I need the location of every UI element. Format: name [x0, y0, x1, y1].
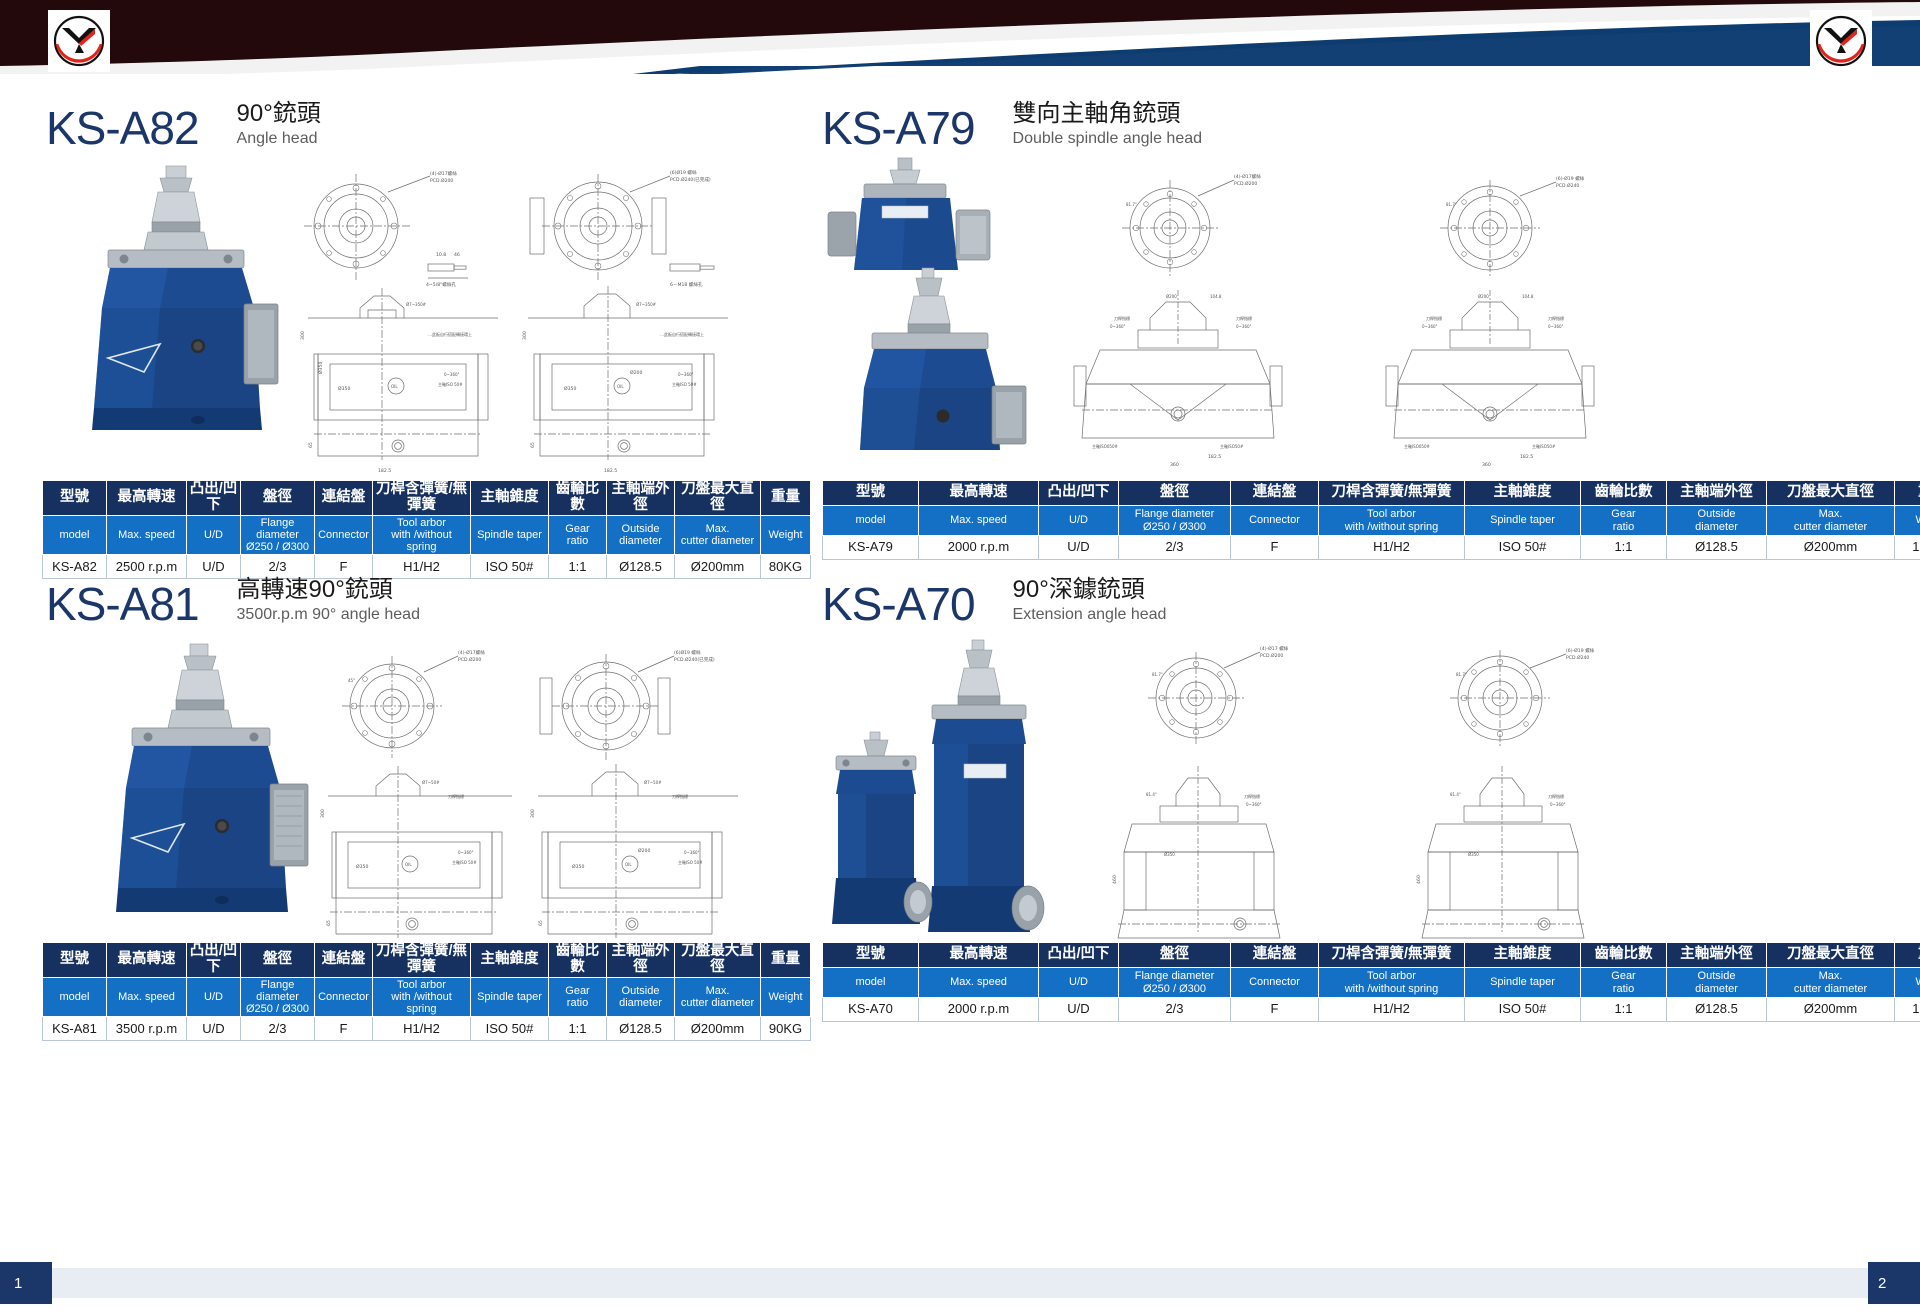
table-header-row-en: model Max. speed U/D Flange diameter Ø25… [823, 968, 1920, 998]
header-cn-outside: 主軸端外徑 [1667, 481, 1767, 506]
header-cn-model: 型號 [43, 943, 107, 978]
product-title-ks-a81: KS-A81 高轉速90°銃頭 3500r.p.m 90° angle head [46, 576, 420, 627]
svg-text:6－M18 螺絲孔: 6－M18 螺絲孔 [670, 281, 703, 288]
svg-text:0~360°: 0~360° [678, 372, 694, 377]
svg-text:OIL: OIL [405, 862, 412, 867]
svg-text:(4)-Ø17螺絲: (4)-Ø17螺絲 [430, 170, 457, 177]
svg-text:0~360°: 0~360° [1548, 324, 1564, 329]
header-en-connector: Connector [315, 977, 373, 1016]
header-cn-connector: 連結盤 [315, 481, 373, 516]
svg-text:PCD.Ø240: PCD.Ø240 [1556, 182, 1579, 189]
svg-text:0~360°: 0~360° [444, 372, 460, 377]
value-connector: F [1231, 536, 1319, 560]
value-outside: Ø128.5 [1667, 998, 1767, 1022]
svg-text:刀桿指標: 刀桿指標 [1244, 793, 1260, 799]
header-en-ud: U/D [1039, 968, 1119, 998]
svg-text:Ø350: Ø350 [572, 863, 584, 870]
table-row: KS-A70 2000 r.p.m U/D 2/3 F H1/H2 ISO 50… [823, 998, 1920, 1022]
technical-drawing-ks-a70: (4)-Ø17 螺絲 PCD.Ø200 81.7° (6)-Ø19 螺絲 [1090, 646, 1710, 976]
value-arbor: H1/H2 [373, 1017, 471, 1041]
header-en-outside: Outside diameter [607, 977, 675, 1016]
svg-text:Ø350: Ø350 [356, 863, 368, 870]
svg-text:Ø7~350#: Ø7~350# [406, 302, 427, 307]
value-taper: ISO 50# [1465, 998, 1581, 1022]
company-logo [48, 10, 110, 72]
table-header-row-en: model Max. speed U/D Flange diameter Ø25… [823, 506, 1920, 536]
value-ud: U/D [187, 1017, 241, 1041]
svg-text:(6)Ø19 螺絲: (6)Ø19 螺絲 [670, 169, 697, 176]
svg-text:81.7°: 81.7° [1126, 202, 1137, 207]
header-cn-flange: 盤徑 [241, 481, 315, 516]
header-en-outside: Outside diameter [1667, 968, 1767, 998]
header-en-ud: U/D [187, 515, 241, 554]
product-block-ks-a70: KS-A70 90°深鐻銃頭 Extension angle head [800, 560, 1920, 1035]
value-model: KS-A81 [43, 1017, 107, 1041]
header-cn-arbor: 刀桿含彈簧/無彈簧 [373, 943, 471, 978]
table-header-row-en: model Max. speed U/D Flange diameter Ø25… [43, 515, 811, 554]
value-speed: 3500 r.p.m [107, 1017, 187, 1041]
value-model: KS-A79 [823, 536, 919, 560]
header-en-model: model [43, 977, 107, 1016]
svg-text:360: 360 [1170, 462, 1179, 468]
header-en-model: model [823, 506, 919, 536]
svg-text:Ø350: Ø350 [317, 362, 324, 374]
svg-text:Ø200: Ø200 [1166, 294, 1177, 299]
value-ud: U/D [1039, 536, 1119, 560]
header-en-cutter: Max. cutter diameter [1767, 968, 1895, 998]
header-cn-outside: 主軸端外徑 [607, 481, 675, 516]
svg-text:刀桿指標: 刀桿指標 [1548, 315, 1564, 321]
svg-text:Ø7~350#: Ø7~350# [636, 302, 657, 307]
technical-drawing-ks-a82-front: (4)-Ø17螺絲 PCD.Ø200 4~5/8"螺絲孔 10.8 46 [278, 168, 778, 498]
value-taper: ISO 50# [1465, 536, 1581, 560]
svg-text:46: 46 [454, 252, 460, 258]
catalog-page: KS-A82 90°銃頭 Angle head [0, 0, 1920, 1311]
header-cn-taper: 主軸錐度 [1465, 943, 1581, 968]
value-weight: 105KG [1895, 998, 1920, 1022]
value-cutter: Ø200mm [1767, 998, 1895, 1022]
header-banner [0, 0, 1920, 78]
header-cn-arbor: 刀桿含彈簧/無彈簧 [1319, 943, 1465, 968]
header-cn-speed: 最高轉速 [107, 481, 187, 516]
title-chinese: 雙向主軸角銃頭 [1013, 100, 1202, 128]
header-cn-ud: 凸出/凹下 [1039, 943, 1119, 968]
technical-drawing-ks-a79: (4)-Ø17螺絲 PCD.Ø200 81.7° (6)-Ø19 螺絲 [1070, 170, 1710, 500]
svg-text:Ø350: Ø350 [1164, 852, 1175, 857]
header-en-ud: U/D [187, 977, 241, 1016]
svg-text:10.8: 10.8 [436, 252, 446, 258]
svg-text:刀桿指標: 刀桿指標 [1114, 315, 1130, 321]
title-english: Double spindle angle head [1013, 129, 1202, 149]
title-english: 3500r.p.m 90° angle head [237, 605, 420, 625]
header-en-flange: Flange diameter Ø250 / Ø300 [241, 515, 315, 554]
page-footer: 1 2 [0, 1262, 1920, 1311]
svg-text:0~360°: 0~360° [458, 850, 474, 855]
value-outside: Ø128.5 [607, 1017, 675, 1041]
svg-text:PCD.Ø200: PCD.Ø200 [430, 177, 453, 184]
svg-text:104.8: 104.8 [1210, 294, 1222, 299]
spec-table-ks-a81: 型號 最高轉速 凸出/凹下 盤徑 連結盤 刀桿含彈簧/無彈簧 主軸錐度 齒輪比數… [42, 942, 811, 1041]
header-en-taper: Spindle taper [1465, 506, 1581, 536]
svg-text:Ø7~50#: Ø7~50# [422, 780, 440, 785]
svg-text:主軸ISO 50#: 主軸ISO 50# [678, 859, 703, 865]
technical-drawing-ks-a81: (4)-Ø17螺絲 PCD.Ø200 45° [300, 648, 790, 978]
header-en-cutter: Max. cutter diameter [1767, 506, 1895, 536]
header-en-gear: Gear ratio [549, 515, 607, 554]
header-cn-connector: 連結盤 [1231, 481, 1319, 506]
header-en-flange: Flange diameter Ø250 / Ø300 [1119, 968, 1231, 998]
value-taper: ISO 50# [471, 1017, 549, 1041]
value-arbor: H1/H2 [1319, 998, 1465, 1022]
svg-text:OIL: OIL [617, 384, 624, 389]
header-en-gear: Gear ratio [1581, 968, 1667, 998]
svg-text:300: 300 [320, 809, 326, 818]
header-en-arbor: Tool arbor with /without spring [373, 977, 471, 1016]
header-en-taper: Spindle taper [471, 515, 549, 554]
header-en-taper: Spindle taper [1465, 968, 1581, 998]
svg-text:300: 300 [522, 331, 528, 340]
title-chinese: 90°深鐻銃頭 [1013, 576, 1167, 604]
svg-text:刀桿指標: 刀桿指標 [1236, 315, 1252, 321]
header-en-weight: Weight [1895, 968, 1920, 998]
svg-text:0~360°: 0~360° [684, 850, 700, 855]
value-connector: F [315, 1017, 373, 1041]
header-en-speed: Max. speed [919, 506, 1039, 536]
product-title-ks-a79: KS-A79 雙向主軸角銃頭 Double spindle angle head [822, 100, 1202, 151]
svg-text:(4)-Ø17螺絲: (4)-Ø17螺絲 [1234, 173, 1261, 180]
header-cn-connector: 連結盤 [315, 943, 373, 978]
header-en-model: model [823, 968, 919, 998]
header-en-arbor: Tool arbor with /without spring [373, 515, 471, 554]
svg-text:182.5: 182.5 [1208, 454, 1221, 460]
header-cn-flange: 盤徑 [241, 943, 315, 978]
svg-text:PCD.Ø240: PCD.Ø240 [1566, 654, 1589, 661]
svg-text:81.4°: 81.4° [1146, 792, 1157, 797]
header-cn-weight: 重量 [1895, 943, 1920, 968]
svg-text:81.7°: 81.7° [1152, 672, 1163, 677]
table-row: KS-A79 2000 r.p.m U/D 2/3 F H1/H2 ISO 50… [823, 536, 1920, 560]
value-weight: 100KG [1895, 536, 1920, 560]
title-english: Angle head [237, 129, 321, 149]
table-row: KS-A81 3500 r.p.m U/D 2/3 F H1/H2 ISO 50… [43, 1017, 811, 1041]
header-en-arbor: Tool arbor with /without spring [1319, 968, 1465, 998]
header-cn-ud: 凸出/凹下 [187, 943, 241, 978]
table-header-row-cn: 型號 最高轉速 凸出/凹下 盤徑 連結盤 刀桿含彈簧/無彈簧 主軸錐度 齒輪比數… [43, 943, 811, 978]
spec-table-ks-a79: 型號 最高轉速 凸出/凹下 盤徑 連結盤 刀桿含彈簧/無彈簧 主軸錐度 齒輪比數… [822, 480, 1920, 560]
header-cn-speed: 最高轉速 [919, 481, 1039, 506]
product-title-ks-a82: KS-A82 90°銃頭 Angle head [46, 100, 321, 151]
header-en-arbor: Tool arbor with /without spring [1319, 506, 1465, 536]
svg-text:PCD.Ø240(已完成): PCD.Ø240(已完成) [670, 176, 711, 183]
svg-text:Ø350: Ø350 [338, 385, 350, 392]
svg-text:65: 65 [530, 442, 536, 448]
product-title-ks-a70: KS-A70 90°深鐻銃頭 Extension angle head [822, 576, 1166, 627]
svg-text:主軸ISO050#: 主軸ISO050# [1092, 443, 1119, 449]
header-cn-ud: 凸出/凹下 [187, 481, 241, 516]
svg-text:刀桿指標: 刀桿指標 [1426, 315, 1442, 321]
header-cn-arbor: 刀桿含彈簧/無彈簧 [373, 481, 471, 516]
value-model: KS-A70 [823, 998, 919, 1022]
model-code: KS-A82 [46, 105, 199, 151]
svg-text:(4)-Ø17 螺絲: (4)-Ø17 螺絲 [1260, 646, 1289, 652]
value-speed: 2000 r.p.m [919, 536, 1039, 560]
svg-text:PCD.Ø200: PCD.Ø200 [1234, 180, 1257, 187]
header-cn-taper: 主軸錐度 [471, 943, 549, 978]
title-english: Extension angle head [1013, 605, 1167, 625]
svg-text:…此板自行搭配轉接環上: …此板自行搭配轉接環上 [660, 331, 704, 337]
header-cn-cutter: 刀盤最大直徑 [1767, 481, 1895, 506]
svg-text:182.5: 182.5 [378, 468, 391, 474]
svg-text:主軸ISO50#: 主軸ISO50# [1220, 443, 1244, 449]
svg-text:Ø7~50#: Ø7~50# [644, 780, 662, 785]
product-block-ks-a79: KS-A79 雙向主軸角銃頭 Double spindle angle head [800, 78, 1920, 568]
svg-text:Ø350: Ø350 [1468, 852, 1479, 857]
table-header-row-cn: 型號 最高轉速 凸出/凹下 盤徑 連結盤 刀桿含彈簧/無彈簧 主軸錐度 齒輪比數… [823, 943, 1920, 968]
header-en-cutter: Max. cutter diameter [675, 515, 761, 554]
header-en-flange: Flange diameter Ø250 / Ø300 [1119, 506, 1231, 536]
product-block-ks-a82: KS-A82 90°銃頭 Angle head [0, 78, 800, 568]
svg-text:刀桿指標: 刀桿指標 [1548, 793, 1564, 799]
value-flange: 2/3 [1119, 998, 1231, 1022]
svg-text:刀桿指標: 刀桿指標 [672, 793, 688, 799]
page-number-left: 1 [0, 1262, 52, 1304]
svg-text:4~5/8"螺絲孔: 4~5/8"螺絲孔 [426, 281, 456, 288]
value-gear: 1:1 [1581, 536, 1667, 560]
spec-table-ks-a70: 型號 最高轉速 凸出/凹下 盤徑 連結盤 刀桿含彈簧/無彈簧 主軸錐度 齒輪比數… [822, 942, 1920, 1022]
header-cn-gear: 齒輪比數 [1581, 943, 1667, 968]
header-cn-cutter: 刀盤最大直徑 [1767, 943, 1895, 968]
value-ud: U/D [1039, 998, 1119, 1022]
product-photo-ks-a79 [810, 150, 1060, 475]
product-photo-ks-a82 [48, 158, 288, 463]
header-cn-arbor: 刀桿含彈簧/無彈簧 [1319, 481, 1465, 506]
header-en-speed: Max. speed [107, 515, 187, 554]
header-en-gear: Gear ratio [1581, 506, 1667, 536]
header-en-cutter: Max. cutter diameter [675, 977, 761, 1016]
header-cn-speed: 最高轉速 [919, 943, 1039, 968]
svg-text:OIL: OIL [625, 862, 632, 867]
header-cn-gear: 齒輪比數 [549, 943, 607, 978]
svg-text:300: 300 [300, 331, 306, 340]
svg-text:65: 65 [326, 920, 332, 926]
svg-text:主軸ISO050#: 主軸ISO050# [1404, 443, 1431, 449]
header-en-speed: Max. speed [107, 977, 187, 1016]
header-cn-cutter: 刀盤最大直徑 [675, 481, 761, 516]
product-photo-ks-a70 [814, 636, 1074, 961]
svg-text:65: 65 [308, 442, 314, 448]
table-header-row-cn: 型號 最高轉速 凸出/凹下 盤徑 連結盤 刀桿含彈簧/無彈簧 主軸錐度 齒輪比數… [823, 481, 1920, 506]
svg-text:104.8: 104.8 [1522, 294, 1534, 299]
svg-text:300: 300 [530, 809, 536, 818]
header-en-connector: Connector [1231, 968, 1319, 998]
page-number-right: 2 [1868, 1262, 1920, 1304]
header-cn-outside: 主軸端外徑 [607, 943, 675, 978]
svg-text:182.5: 182.5 [1520, 454, 1533, 460]
header-cn-model: 型號 [823, 481, 919, 506]
model-code: KS-A70 [822, 581, 975, 627]
svg-text:182.5: 182.5 [604, 468, 617, 474]
header-en-taper: Spindle taper [471, 977, 549, 1016]
header-en-speed: Max. speed [919, 968, 1039, 998]
svg-text:主軸ISO50#: 主軸ISO50# [1532, 443, 1556, 449]
svg-text:…此板自行搭配轉接環上: …此板自行搭配轉接環上 [428, 331, 472, 337]
svg-text:0~360°: 0~360° [1550, 802, 1566, 807]
value-flange: 2/3 [1119, 536, 1231, 560]
value-gear: 1:1 [549, 1017, 607, 1041]
header-cn-gear: 齒輪比數 [1581, 481, 1667, 506]
svg-text:(4)-Ø17螺絲: (4)-Ø17螺絲 [458, 649, 485, 656]
header-cn-cutter: 刀盤最大直徑 [675, 943, 761, 978]
value-speed: 2000 r.p.m [919, 998, 1039, 1022]
svg-text:主軸ISO 50#: 主軸ISO 50# [438, 381, 463, 387]
svg-text:PCD.Ø240(已完成): PCD.Ø240(已完成) [674, 656, 715, 663]
svg-text:0~360°: 0~360° [1236, 324, 1252, 329]
svg-text:Ø200: Ø200 [630, 369, 642, 376]
value-cutter: Ø200mm [675, 1017, 761, 1041]
svg-text:主軸ISO 50#: 主軸ISO 50# [672, 381, 697, 387]
company-logo [1810, 10, 1872, 72]
svg-text:0~360°: 0~360° [1246, 802, 1262, 807]
value-outside: Ø128.5 [1667, 536, 1767, 560]
header-en-gear: Gear ratio [549, 977, 607, 1016]
product-photo-ks-a81 [70, 640, 320, 945]
svg-text:81.7°: 81.7° [1456, 672, 1467, 677]
title-chinese: 90°銃頭 [237, 100, 321, 128]
svg-text:45°: 45° [348, 678, 355, 683]
title-chinese: 高轉速90°銃頭 [237, 576, 420, 604]
svg-text:主軸ISO 50#: 主軸ISO 50# [452, 859, 477, 865]
header-cn-gear: 齒輪比數 [549, 481, 607, 516]
header-cn-ud: 凸出/凹下 [1039, 481, 1119, 506]
header-en-flange: Flange diameter Ø250 / Ø300 [241, 977, 315, 1016]
header-en-model: model [43, 515, 107, 554]
model-code: KS-A79 [822, 105, 975, 151]
value-flange: 2/3 [241, 1017, 315, 1041]
model-code: KS-A81 [46, 581, 199, 627]
header-cn-flange: 盤徑 [1119, 481, 1231, 506]
svg-text:81.4°: 81.4° [1450, 792, 1461, 797]
svg-text:PCD.Ø200: PCD.Ø200 [458, 656, 481, 663]
header-en-outside: Outside diameter [607, 515, 675, 554]
svg-text:Ø200: Ø200 [638, 847, 650, 854]
svg-text:65: 65 [538, 920, 544, 926]
svg-text:(6)Ø19 螺絲: (6)Ø19 螺絲 [674, 649, 701, 656]
product-block-ks-a81: KS-A81 高轉速90°銃頭 3500r.p.m 90° angle head [0, 560, 800, 1035]
value-cutter: Ø200mm [1767, 536, 1895, 560]
header-cn-model: 型號 [823, 943, 919, 968]
svg-text:OIL: OIL [391, 384, 398, 389]
header-en-outside: Outside diameter [1667, 506, 1767, 536]
svg-text:460: 460 [1416, 875, 1422, 884]
svg-text:Ø200: Ø200 [1478, 294, 1489, 299]
header-en-connector: Connector [315, 515, 373, 554]
header-cn-taper: 主軸錐度 [471, 481, 549, 516]
table-header-row-en: model Max. speed U/D Flange diameter Ø25… [43, 977, 811, 1016]
svg-text:81.7°: 81.7° [1446, 202, 1457, 207]
header-en-connector: Connector [1231, 506, 1319, 536]
svg-text:(6)-Ø19 螺絲: (6)-Ø19 螺絲 [1556, 175, 1585, 182]
header-cn-weight: 重量 [1895, 481, 1920, 506]
header-en-ud: U/D [1039, 506, 1119, 536]
value-gear: 1:1 [1581, 998, 1667, 1022]
table-header-row-cn: 型號 最高轉速 凸出/凹下 盤徑 連結盤 刀桿含彈簧/無彈簧 主軸錐度 齒輪比數… [43, 481, 811, 516]
header-cn-connector: 連結盤 [1231, 943, 1319, 968]
svg-text:0~360°: 0~360° [1422, 324, 1438, 329]
footer-bar [0, 1268, 1920, 1298]
header-cn-model: 型號 [43, 481, 107, 516]
svg-text:(6)-Ø19 螺絲: (6)-Ø19 螺絲 [1566, 647, 1595, 654]
svg-text:460: 460 [1112, 875, 1118, 884]
value-connector: F [1231, 998, 1319, 1022]
svg-text:0~360°: 0~360° [1110, 324, 1126, 329]
svg-text:刀桿指標: 刀桿指標 [448, 793, 464, 799]
header-en-weight: Weight [1895, 506, 1920, 536]
header-cn-taper: 主軸錐度 [1465, 481, 1581, 506]
header-cn-outside: 主軸端外徑 [1667, 943, 1767, 968]
svg-text:PCD.Ø200: PCD.Ø200 [1260, 652, 1283, 659]
header-cn-speed: 最高轉速 [107, 943, 187, 978]
header-cn-flange: 盤徑 [1119, 943, 1231, 968]
svg-text:Ø350: Ø350 [564, 385, 576, 392]
value-arbor: H1/H2 [1319, 536, 1465, 560]
svg-text:360: 360 [1482, 462, 1491, 468]
